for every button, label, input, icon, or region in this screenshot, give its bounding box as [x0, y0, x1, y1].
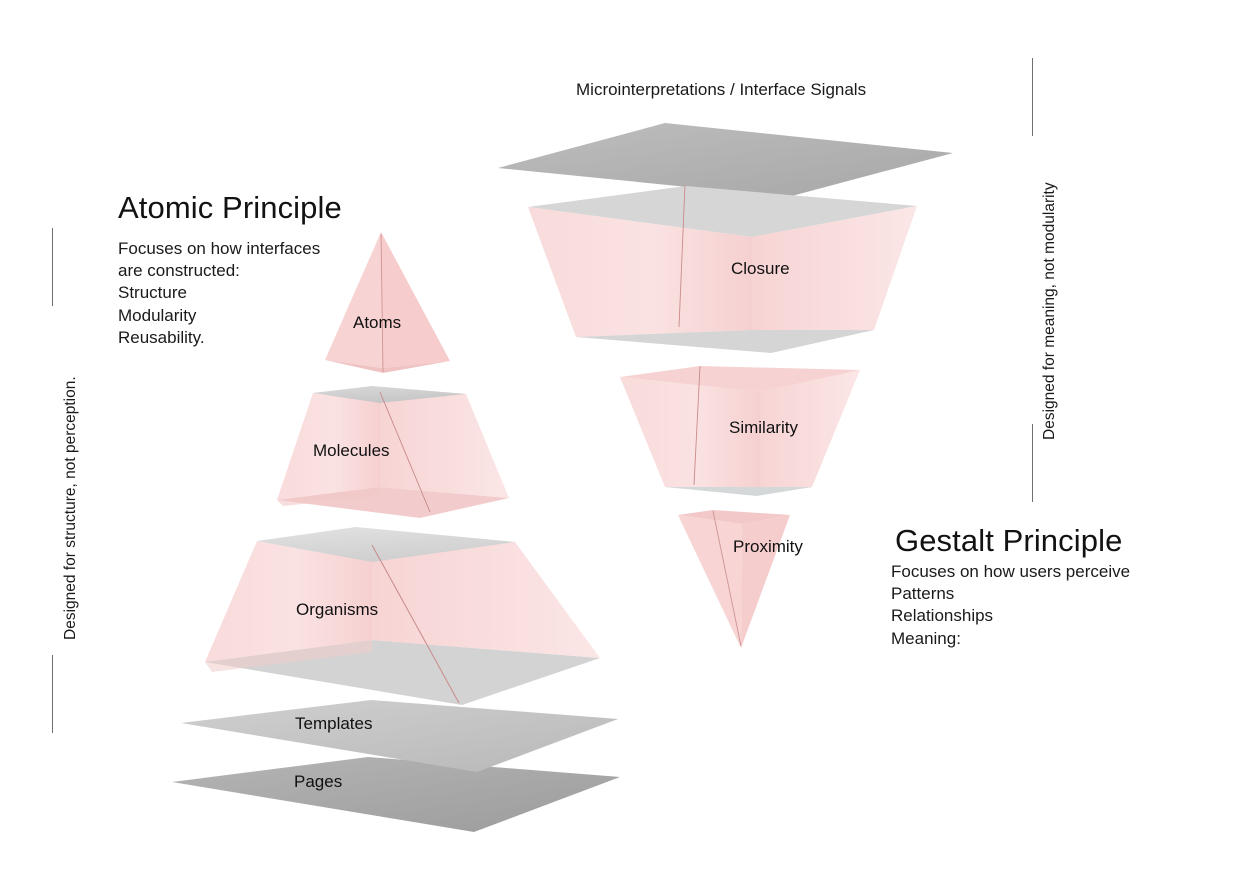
- layer-templates-shape: [181, 700, 618, 772]
- atomic-principle-heading: Atomic Principle: [118, 190, 342, 226]
- top-caption: Microinterpretations / Interface Signals: [576, 80, 866, 100]
- layer-label-similarity: Similarity: [729, 418, 798, 438]
- gestalt-principle-heading: Gestalt Principle: [895, 523, 1122, 559]
- left-side-note: Designed for structure, not perception.: [62, 376, 80, 640]
- layer-molecules-shape: [277, 386, 509, 518]
- layer-label-organisms: Organisms: [296, 600, 378, 620]
- layer-closure-shape: [528, 185, 917, 353]
- layer-atoms-shape: [325, 232, 450, 373]
- layer-label-molecules: Molecules: [313, 441, 390, 461]
- layer-label-proximity: Proximity: [733, 537, 803, 557]
- layer-label-pages: Pages: [294, 772, 342, 792]
- layer-label-templates: Templates: [295, 714, 372, 734]
- layer-label-atoms: Atoms: [353, 313, 401, 333]
- layer-label-closure: Closure: [731, 259, 790, 279]
- left-rule-bottom: [52, 655, 53, 733]
- right-rule-top: [1032, 58, 1033, 136]
- atomic-principle-description: Focuses on how interfaces are constructe…: [118, 238, 320, 349]
- gestalt-principle-description: Focuses on how users perceive Patterns R…: [891, 561, 1130, 650]
- layer-proximity-shape: [678, 510, 790, 648]
- left-rule-top: [52, 228, 53, 306]
- right-rule-bottom: [1032, 424, 1033, 502]
- diagram-shapes: [0, 0, 1254, 886]
- diagram-canvas: Designed for structure, not perception. …: [0, 0, 1254, 886]
- right-side-note: Designed for meaning, not modularity: [1041, 182, 1059, 440]
- layer-organisms-shape: [205, 527, 600, 705]
- gestalt-top-slab-shape: [498, 123, 953, 197]
- layer-pages-shape: [172, 757, 620, 832]
